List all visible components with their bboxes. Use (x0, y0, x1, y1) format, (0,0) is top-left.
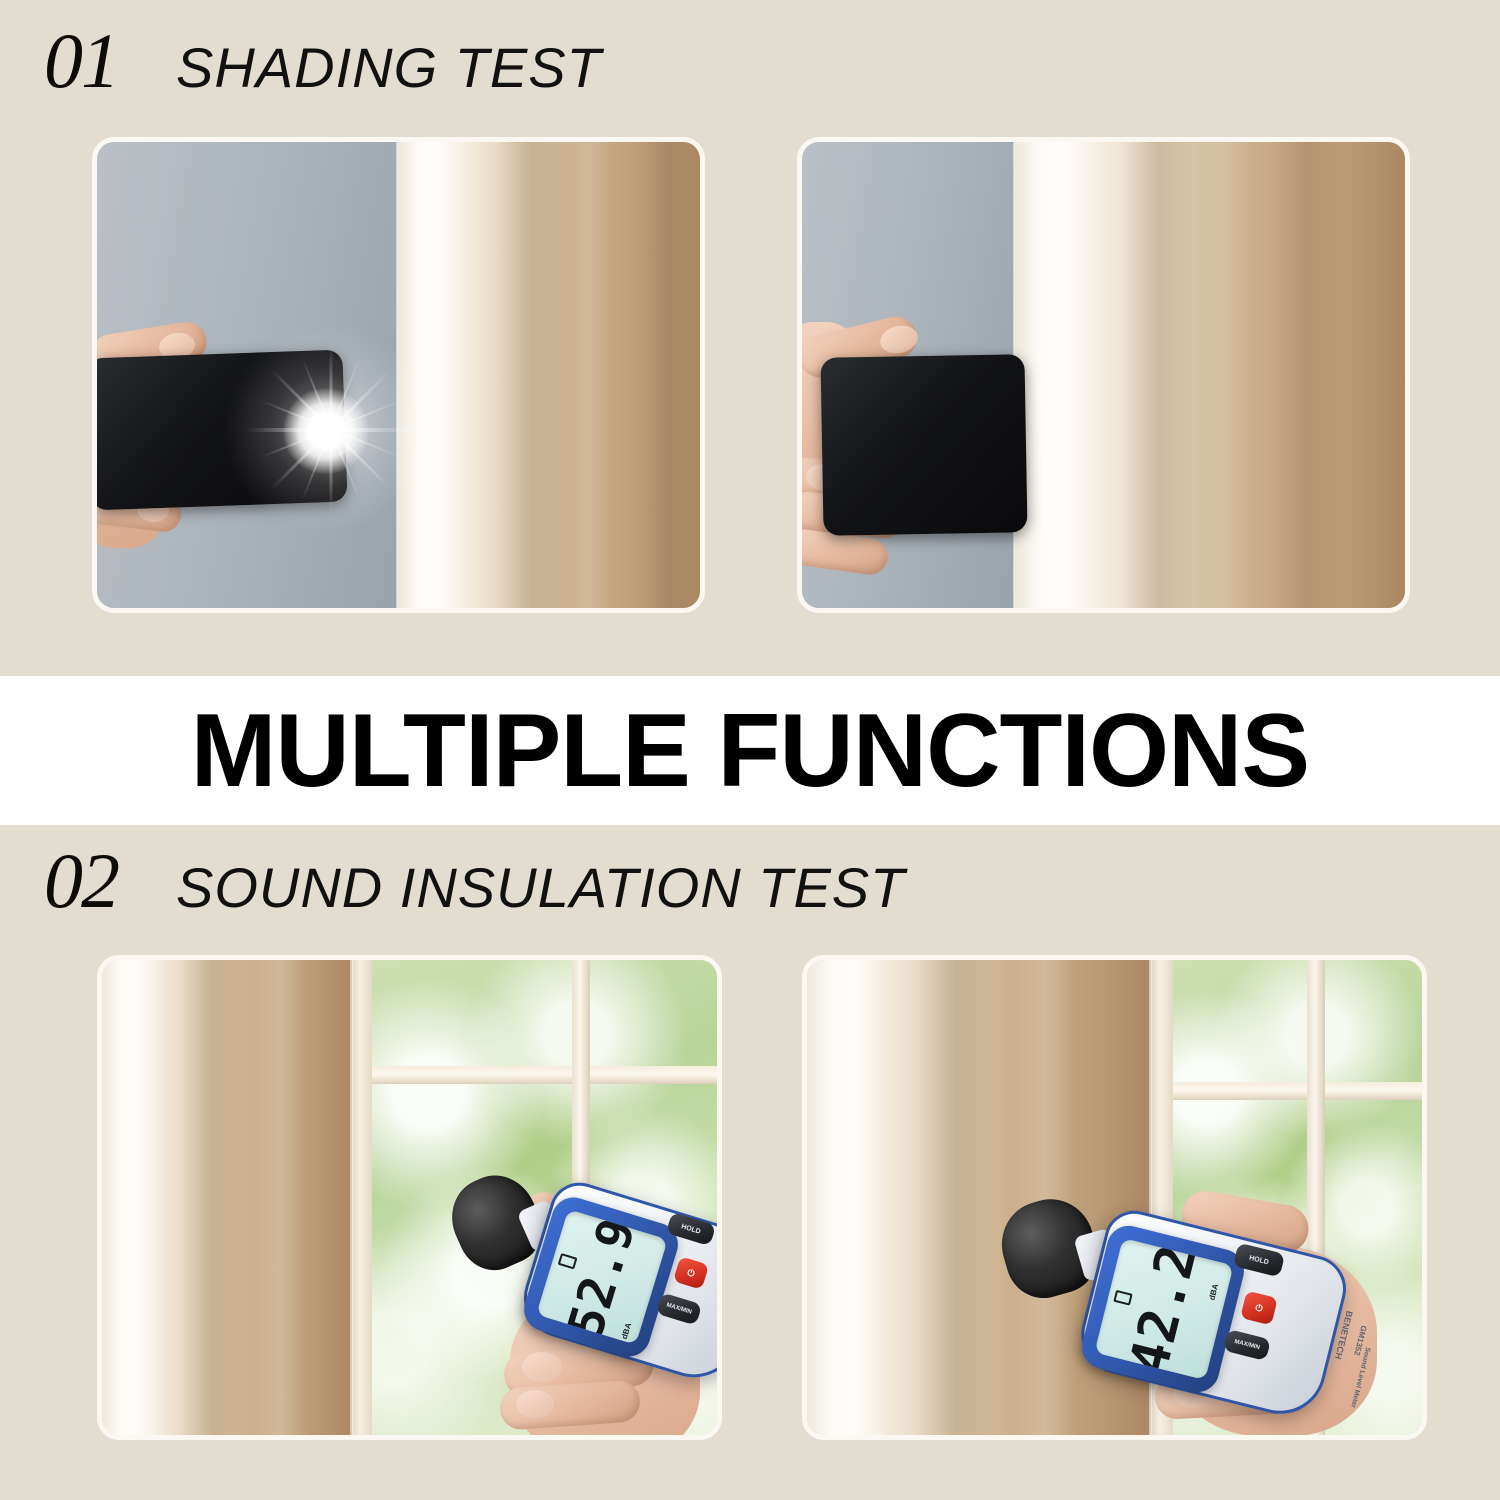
curtain-fold-2 (180, 960, 246, 1435)
multiple-functions-banner: MULTIPLE FUNCTIONS (0, 676, 1500, 825)
battery-icon (558, 1253, 578, 1269)
window-mullion-horizontal (1147, 1082, 1422, 1100)
curtain-edge (350, 960, 353, 1435)
fingernail (516, 1390, 554, 1418)
curtain-fold-1 (821, 960, 891, 1435)
section-01-header: 01 SHADING TEST (44, 22, 602, 100)
panel-shading-flashlight-behind (797, 137, 1410, 613)
photo-scene (97, 142, 700, 608)
fingernail (522, 1352, 562, 1382)
battery-icon (1113, 1290, 1132, 1306)
curtain-fold-3 (252, 960, 308, 1435)
photo-scene (802, 142, 1405, 608)
curtain-fold-3 (1013, 960, 1077, 1435)
section-number: 01 (44, 22, 118, 100)
curtain-highlight-fold (1020, 142, 1080, 608)
banner-headline: MULTIPLE FUNCTIONS (191, 699, 1309, 803)
curtain-fold-2 (917, 960, 995, 1435)
panel-sound-behind-curtain: 42.2 dBA HOLD ⏻ MAX/MIN BENETECH GM1352 … (802, 955, 1427, 1440)
meter-unit: dBA (619, 1322, 632, 1340)
section-number: 02 (44, 842, 118, 920)
meter-unit: dBA (1207, 1283, 1220, 1301)
curtain-shadow-fold (1122, 142, 1194, 608)
curtain-fold-1 (112, 960, 170, 1435)
flashlight-beam (283, 388, 369, 474)
photo-scene: 42.2 dBA HOLD ⏻ MAX/MIN BENETECH GM1352 … (807, 960, 1422, 1435)
section-title: SHADING TEST (176, 40, 602, 96)
window-mullion-horizontal (348, 1066, 717, 1084)
curtain-fold-3 (637, 142, 701, 608)
panel-sound-open-window: 52.9 dBA HOLD ⏻ MAX/MIN BENETECH (97, 955, 722, 1440)
curtain-fold-2 (567, 142, 611, 608)
section-02-header: 02 SOUND INSULATION TEST (44, 842, 905, 920)
panel-shading-flashlight-front (92, 137, 705, 613)
meter-reading: 42.2 (1122, 1239, 1205, 1380)
photo-scene: 52.9 dBA HOLD ⏻ MAX/MIN BENETECH (102, 960, 717, 1435)
curtain-fold-3 (1272, 142, 1342, 608)
smartphone (820, 354, 1027, 536)
section-title: SOUND INSULATION TEST (176, 860, 905, 916)
curtain-fold-2 (1202, 142, 1250, 608)
curtain-shadow-fold (497, 142, 567, 608)
